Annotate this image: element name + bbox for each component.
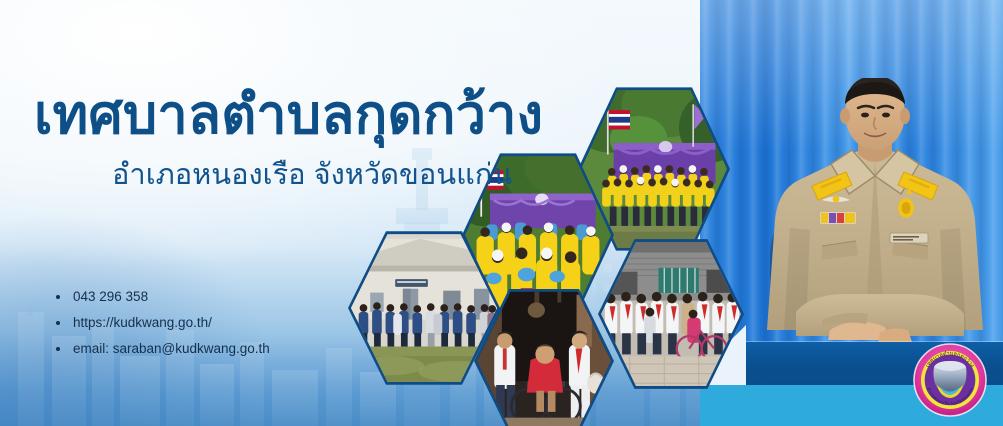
contact-email-text: email: saraban@kudkwang.go.th <box>73 341 270 356</box>
bullet-dot-icon <box>56 321 60 325</box>
contact-list: 043 296 358 https://kudkwang.go.th/ emai… <box>56 289 270 367</box>
page-title: เทศบาลตำบลกุดกว้าง <box>34 84 543 146</box>
contact-item-email[interactable]: email: saraban@kudkwang.go.th <box>56 341 270 357</box>
page-subtitle: อำเภอหนองเรือ จังหวัดขอนแก่น <box>112 156 512 194</box>
contact-item-website[interactable]: https://kudkwang.go.th/ <box>56 315 270 331</box>
mayor-portrait <box>760 78 990 368</box>
municipality-seal[interactable]: เทศบาลตำบลกุดกว้าง อำเภอหนองเรือ จังหวัด… <box>913 343 987 417</box>
contact-website-text: https://kudkwang.go.th/ <box>73 315 212 330</box>
contact-item-phone[interactable]: 043 296 358 <box>56 289 270 305</box>
bullet-dot-icon <box>56 347 60 351</box>
bullet-dot-icon <box>56 295 60 299</box>
contact-phone-text: 043 296 358 <box>73 289 148 304</box>
municipality-banner: เทศบาลตำบลกุดกว้าง อำเภอหนองเรือ จังหวัด… <box>0 0 1003 426</box>
